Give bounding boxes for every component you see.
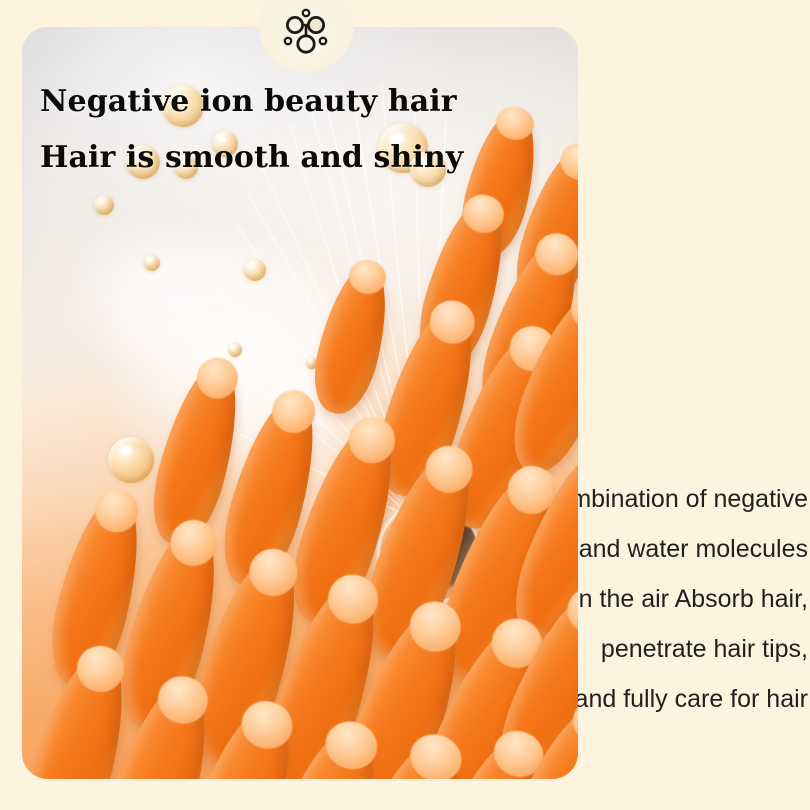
- headline-line-2: Hair is smooth and shiny: [40, 130, 463, 186]
- promo-banner: Negative ion beauty hair Hair is smooth …: [0, 0, 810, 810]
- headline-line-1: Negative ion beauty hair: [40, 74, 463, 130]
- headline: Negative ion beauty hair Hair is smooth …: [40, 74, 463, 186]
- molecule-icon: [278, 5, 334, 61]
- amber-bubble: [228, 343, 242, 357]
- amber-bubble: [144, 255, 160, 271]
- amber-bubble: [94, 195, 114, 215]
- amber-bubble: [244, 259, 266, 281]
- amber-bubble: [108, 437, 154, 483]
